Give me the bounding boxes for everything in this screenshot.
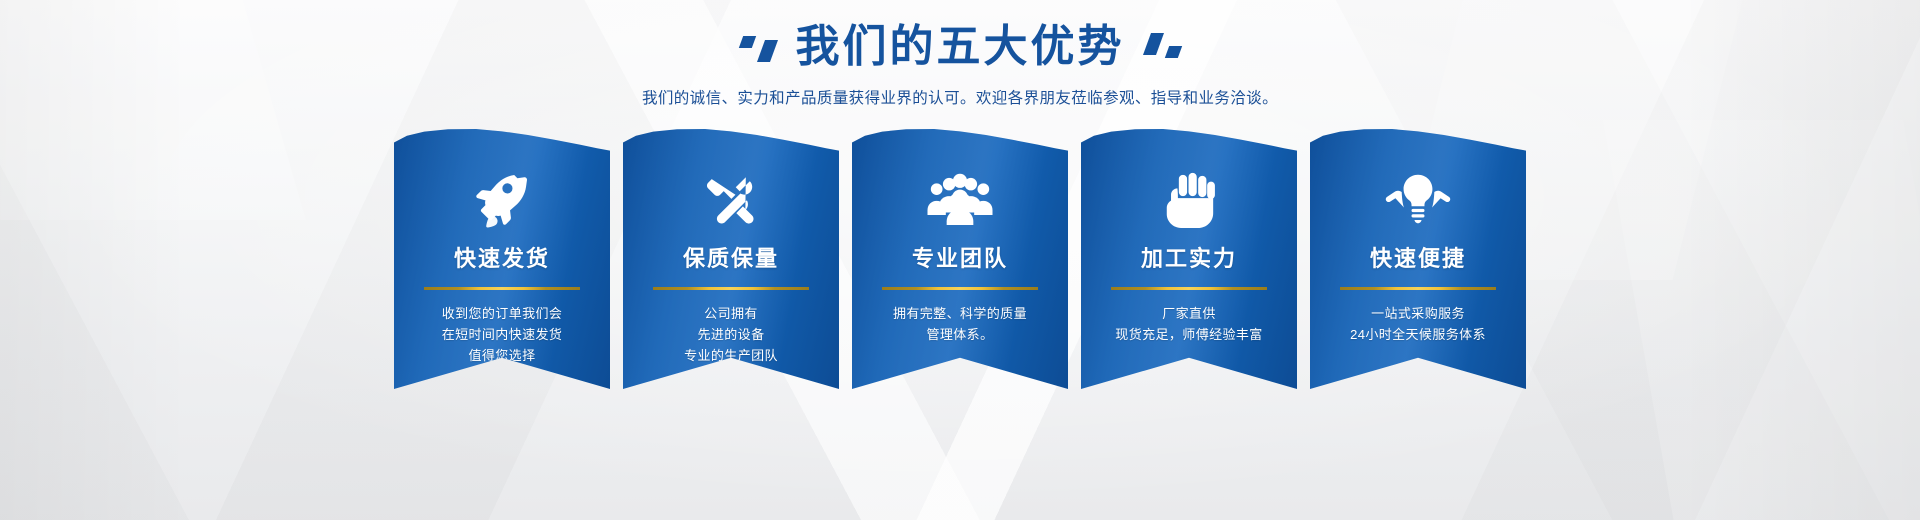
card-body-line: 24小时全天候服务体系 (1350, 324, 1486, 345)
title-ornament-right-icon (1147, 36, 1180, 58)
section-header: 我们的五大优势 我们的诚信、实力和产品质量获得业界的认可。欢迎各界朋友莅临参观、… (0, 0, 1920, 110)
card-divider (424, 287, 580, 290)
card-divider (1340, 287, 1496, 290)
fist-icon (1160, 163, 1218, 237)
card-body-line: 管理体系。 (893, 324, 1027, 345)
title-ornament-left-icon (741, 32, 774, 62)
card-title: 加工实力 (1141, 245, 1237, 273)
card-body-line: 现货充足，师傅经验丰富 (1115, 324, 1262, 345)
advantage-card-professional-team[interactable]: 专业团队 拥有完整、科学的质量 管理体系。 (852, 129, 1068, 389)
advantage-card-list: 快速发货 收到您的订单我们会 在短时间内快速发货 值得您选择 (0, 129, 1920, 389)
card-divider (653, 287, 809, 290)
card-body-line: 值得您选择 (442, 345, 563, 366)
card-body-line: 专业的技术工人 (684, 366, 778, 387)
card-title: 专业团队 (912, 245, 1008, 273)
card-body: 一站式采购服务 24小时全天候服务体系 (1350, 303, 1486, 345)
card-body: 公司拥有 先进的设备 专业的生产团队 专业的技术工人 (684, 303, 778, 387)
card-body-line: 一站式采购服务 (1350, 303, 1486, 324)
card-title: 保质保量 (683, 245, 779, 273)
advantage-card-fast-convenient[interactable]: 快速便捷 一站式采购服务 24小时全天候服务体系 (1310, 129, 1526, 389)
card-body-line: 公司拥有 (684, 303, 778, 324)
advantage-card-fast-shipping[interactable]: 快速发货 收到您的订单我们会 在短时间内快速发货 值得您选择 (394, 129, 610, 389)
card-body-line: 专业的生产团队 (684, 345, 778, 366)
card-body-line: 在短时间内快速发货 (442, 324, 563, 345)
card-body: 厂家直供 现货充足，师傅经验丰富 (1115, 303, 1262, 345)
card-body-line: 收到您的订单我们会 (442, 303, 563, 324)
card-divider (882, 287, 1038, 290)
card-divider (1111, 287, 1267, 290)
page-subtitle: 我们的诚信、实力和产品质量获得业界的认可。欢迎各界朋友莅临参观、指导和业务洽谈。 (0, 88, 1920, 110)
card-body-line: 厂家直供 (1115, 303, 1262, 324)
team-icon (925, 163, 995, 237)
page-title: 我们的五大优势 (796, 21, 1125, 73)
card-body: 拥有完整、科学的质量 管理体系。 (893, 303, 1027, 345)
title-row: 我们的五大优势 (0, 18, 1920, 76)
advantage-card-quality-assurance[interactable]: 保质保量 公司拥有 先进的设备 专业的生产团队 专业的技术工人 (623, 129, 839, 389)
card-body: 收到您的订单我们会 在短时间内快速发货 值得您选择 (442, 303, 563, 366)
card-body-line: 拥有完整、科学的质量 (893, 303, 1027, 324)
rocket-icon (471, 163, 533, 237)
card-title: 快速便捷 (1370, 245, 1466, 273)
advantage-card-processing-capability[interactable]: 加工实力 厂家直供 现货充足，师傅经验丰富 (1081, 129, 1297, 389)
tools-icon (700, 163, 762, 237)
card-title: 快速发货 (454, 245, 550, 273)
idea-hands-icon (1384, 163, 1452, 237)
card-body-line: 先进的设备 (684, 324, 778, 345)
